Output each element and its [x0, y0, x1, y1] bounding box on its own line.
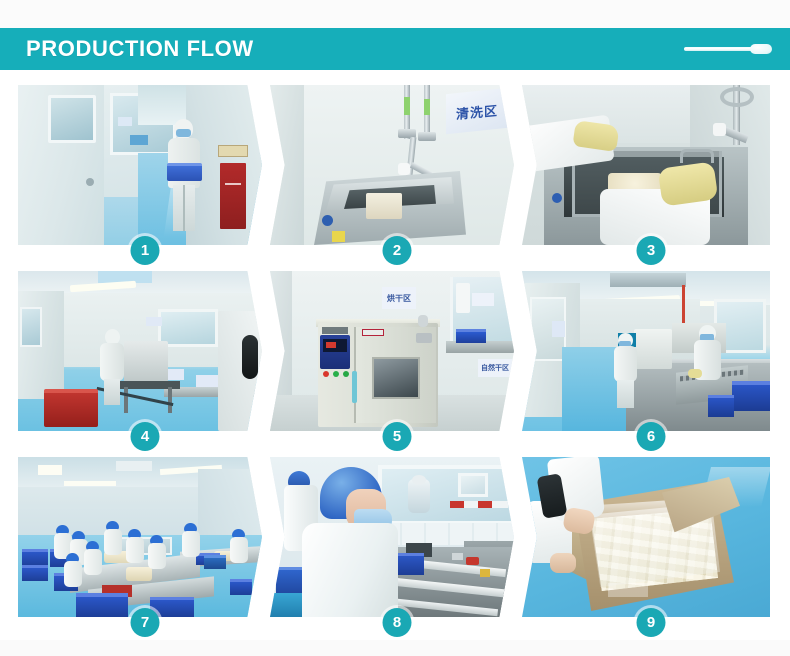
machine-button-red[interactable]: [466, 557, 479, 565]
step-badge: 2: [383, 236, 412, 265]
products-in-tank: [366, 193, 402, 219]
worker-hand-upper: [562, 507, 596, 536]
flow-row-1: 1: [14, 85, 776, 253]
worker-glove: [688, 369, 702, 378]
blue-crate: [456, 329, 486, 343]
tank-blue-label: [322, 215, 333, 226]
worker-coat: [64, 561, 82, 587]
oven-display: [323, 339, 347, 352]
red-pipe: [682, 285, 685, 325]
flow-step-5[interactable]: 烘干区 自然干区 5: [266, 271, 518, 439]
flow-step-8[interactable]: 8: [266, 457, 518, 625]
air-duct: [610, 273, 686, 287]
cabinet-handle: [242, 335, 258, 379]
area-sign-drying-text: 烘干区: [387, 293, 411, 304]
machine-button-grey[interactable]: [452, 553, 463, 560]
oven-nameplate: [362, 329, 384, 336]
flow-step-2[interactable]: 清洗区 2: [266, 85, 518, 253]
wall-sign-small: [472, 293, 494, 306]
production-line-photo: [522, 271, 770, 431]
ceiling-light-2: [64, 481, 116, 486]
page-banner: PRODUCTION FLOW: [0, 28, 790, 70]
door-handle: [352, 371, 357, 403]
wall-dispenser: [456, 283, 470, 313]
notice-board: [218, 145, 248, 157]
worker-coat: [148, 543, 166, 569]
flow-step-3-photo[interactable]: [522, 85, 770, 245]
worker-coat: [302, 523, 398, 617]
pipe-clamp-ring: [720, 87, 754, 107]
worker-figure: [100, 329, 126, 401]
flow-step-3[interactable]: 3: [518, 85, 770, 253]
worker-coverall: [100, 343, 124, 381]
swab-icon: [684, 43, 772, 55]
indicator-green-2: [343, 371, 349, 377]
indicator-green-1: [333, 371, 339, 377]
wall-sign-1: [146, 317, 162, 326]
blue-crate-1: [732, 381, 770, 411]
blue-crate-9: [230, 579, 252, 595]
step-badge: 9: [637, 608, 666, 637]
door-sign: [552, 321, 565, 337]
pipe-green-band-right: [424, 99, 430, 115]
worker-mask: [176, 129, 191, 137]
swab-stick: [684, 47, 760, 51]
basket-loading-photo: [522, 85, 770, 245]
step-badge: 5: [383, 422, 412, 451]
flow-step-6-photo[interactable]: [522, 271, 770, 431]
step-badge: 1: [131, 236, 160, 265]
production-flow-page: PRODUCTION FLOW: [0, 0, 790, 656]
oven-vent: [322, 327, 348, 334]
blue-bin: [130, 135, 148, 145]
flow-step-8-photo[interactable]: [270, 457, 514, 617]
worker-figure-2: [694, 325, 722, 391]
pipe-green-band-left: [404, 97, 410, 115]
drying-oven-photo: 烘干区 自然干区: [270, 271, 514, 431]
reflected-worker-head: [412, 475, 426, 485]
flow-step-9[interactable]: 9: [518, 457, 770, 625]
assembly-hall-photo: [18, 457, 262, 617]
worker-coat: [182, 531, 200, 557]
small-window: [458, 473, 488, 497]
worker-coat: [84, 549, 102, 575]
machine-body: [124, 341, 168, 385]
glass-partition: [378, 465, 514, 525]
worker-figure-8: [230, 529, 248, 563]
door-handle: [86, 178, 94, 186]
fire-cabinet: [220, 163, 246, 229]
worker-figure-4: [104, 521, 122, 555]
flow-step-7-photo[interactable]: [18, 457, 262, 617]
area-sign-natural-drying: 自然干区: [478, 359, 512, 377]
flow-row-2: 4: [14, 271, 776, 439]
flow-step-7[interactable]: 7: [14, 457, 266, 625]
red-crate: [44, 389, 98, 427]
carton-packing-photo: [522, 457, 770, 617]
worker-coat: [230, 537, 248, 563]
worker-figure-6: [148, 535, 166, 569]
fitting: [398, 163, 410, 175]
flow-step-9-photo[interactable]: [522, 457, 770, 617]
blue-crate-2: [708, 395, 734, 417]
worker-coverall: [614, 346, 637, 382]
flow-step-1[interactable]: 1: [14, 85, 266, 253]
top-spacer: [0, 0, 790, 28]
step-badge: 6: [637, 422, 666, 451]
line-machine: [634, 329, 672, 369]
basket-handle-right: [680, 149, 714, 163]
area-sign-washing: 清洗区: [446, 88, 508, 135]
blue-crate-2: [22, 565, 48, 581]
oven-valve: [418, 315, 428, 327]
flow-step-6[interactable]: 6: [518, 271, 770, 439]
step-badge: 4: [131, 422, 160, 451]
flow-grid: 1: [14, 85, 776, 627]
yellow-glove-right: [658, 161, 719, 206]
worker-coat: [126, 537, 144, 563]
swab-tip: [750, 44, 772, 54]
indicator-red: [323, 371, 329, 377]
step-badge: 3: [637, 236, 666, 265]
worker-figure-1: [302, 467, 398, 617]
fitting: [713, 123, 726, 136]
worker-figure-7: [182, 523, 200, 557]
worker-legs: [173, 185, 195, 231]
product-pile-2: [126, 567, 152, 581]
worker-coat: [104, 529, 122, 555]
tank-warning-label: [332, 231, 345, 242]
area-sign-washing-text: 清洗区: [456, 100, 498, 123]
corridor-photo: [18, 85, 262, 245]
ceiling-panel-1: [38, 465, 62, 475]
flow-step-2-photo[interactable]: 清洗区: [270, 85, 514, 245]
warning-stripe: [450, 501, 508, 508]
worker-figure: [164, 119, 204, 231]
area-sign-drying: 烘干区: [382, 287, 416, 309]
worker-figure-3: [84, 541, 102, 575]
worker-figure-5: [126, 529, 144, 563]
wall-sign: [118, 117, 132, 126]
area-sign-natural-drying-text: 自然干区: [481, 363, 509, 373]
left-window: [20, 307, 42, 347]
blue-crate-3: [270, 593, 302, 617]
oven-knob[interactable]: [416, 333, 432, 343]
blue-crate-5: [76, 593, 128, 617]
machine-button-yellow[interactable]: [480, 569, 490, 577]
bottom-spacer: [0, 640, 790, 656]
valve-right: [418, 132, 436, 141]
carton-label: [608, 583, 648, 597]
packing-machine-photo: [270, 457, 514, 617]
flow-row-3: 7: [14, 457, 776, 625]
blue-crate: [167, 163, 202, 181]
worker-legs: [104, 379, 120, 405]
step-badge: 7: [131, 608, 160, 637]
worker-legs: [617, 380, 634, 408]
flow-step-1-photo[interactable]: [18, 85, 262, 245]
worker-figure-9: [64, 553, 82, 587]
flow-step-4-photo[interactable]: [18, 271, 262, 431]
oven-window: [372, 357, 420, 399]
cleanroom-equipment-photo: [18, 271, 262, 431]
left-wall: [270, 85, 304, 245]
flow-step-4[interactable]: 4: [14, 271, 266, 439]
worker-figure-1: [614, 333, 638, 405]
worker-arm-upper: [534, 457, 610, 549]
washing-tank-photo: 清洗区: [270, 85, 514, 245]
machine-leg-2: [168, 387, 172, 413]
worker-hand-lower: [550, 553, 576, 573]
step-badge: 8: [383, 608, 412, 637]
tank-blue-label: [552, 193, 562, 203]
ceiling-panel-2: [116, 461, 152, 471]
blue-crate-8: [204, 555, 226, 569]
page-title: PRODUCTION FLOW: [26, 38, 254, 60]
left-window: [48, 95, 96, 143]
flow-step-5-photo[interactable]: 烘干区 自然干区: [270, 271, 514, 431]
